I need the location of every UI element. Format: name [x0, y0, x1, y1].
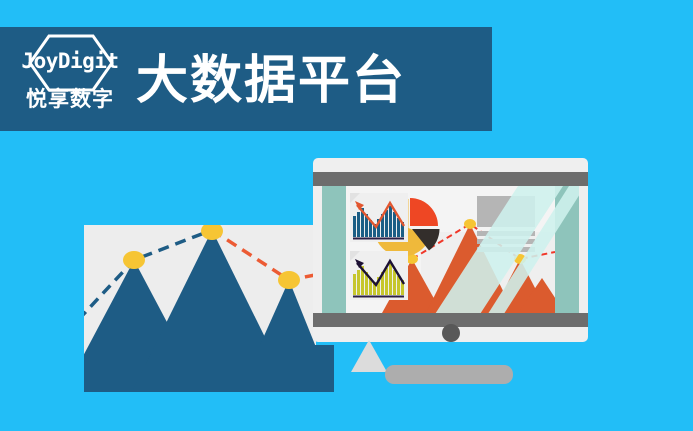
- mountain-chart-panel: [84, 225, 316, 392]
- bar-chart-card-yellow: [350, 251, 408, 300]
- monitor-side-band-left: [322, 186, 346, 313]
- mountain-shapes: [84, 230, 334, 392]
- logo-chinese-text: 悦享数字: [14, 89, 126, 111]
- monitor-screen: [346, 186, 555, 313]
- logo-english-text: JoyDigit: [14, 51, 126, 72]
- header-banner: JoyDigit 悦享数字 大数据平台: [0, 27, 492, 131]
- monitor-stand-base: [385, 365, 513, 384]
- left-mountain-svg: [84, 225, 334, 392]
- monitor-stand-neck: [351, 340, 387, 372]
- image-and-text-block: [477, 196, 535, 252]
- poster-canvas: JoyDigit 悦享数字 大数据平台: [0, 0, 693, 431]
- bar-chart-card-blue: [350, 193, 408, 242]
- dashboard-svg: [346, 186, 555, 313]
- desktop-monitor: [313, 158, 588, 342]
- monitor-bezel-top: [313, 172, 588, 186]
- page-title: 大数据平台: [136, 53, 406, 109]
- logo: JoyDigit 悦享数字: [14, 32, 126, 126]
- power-indicator-dot[interactable]: [442, 324, 460, 342]
- monitor-side-band-right: [555, 186, 579, 313]
